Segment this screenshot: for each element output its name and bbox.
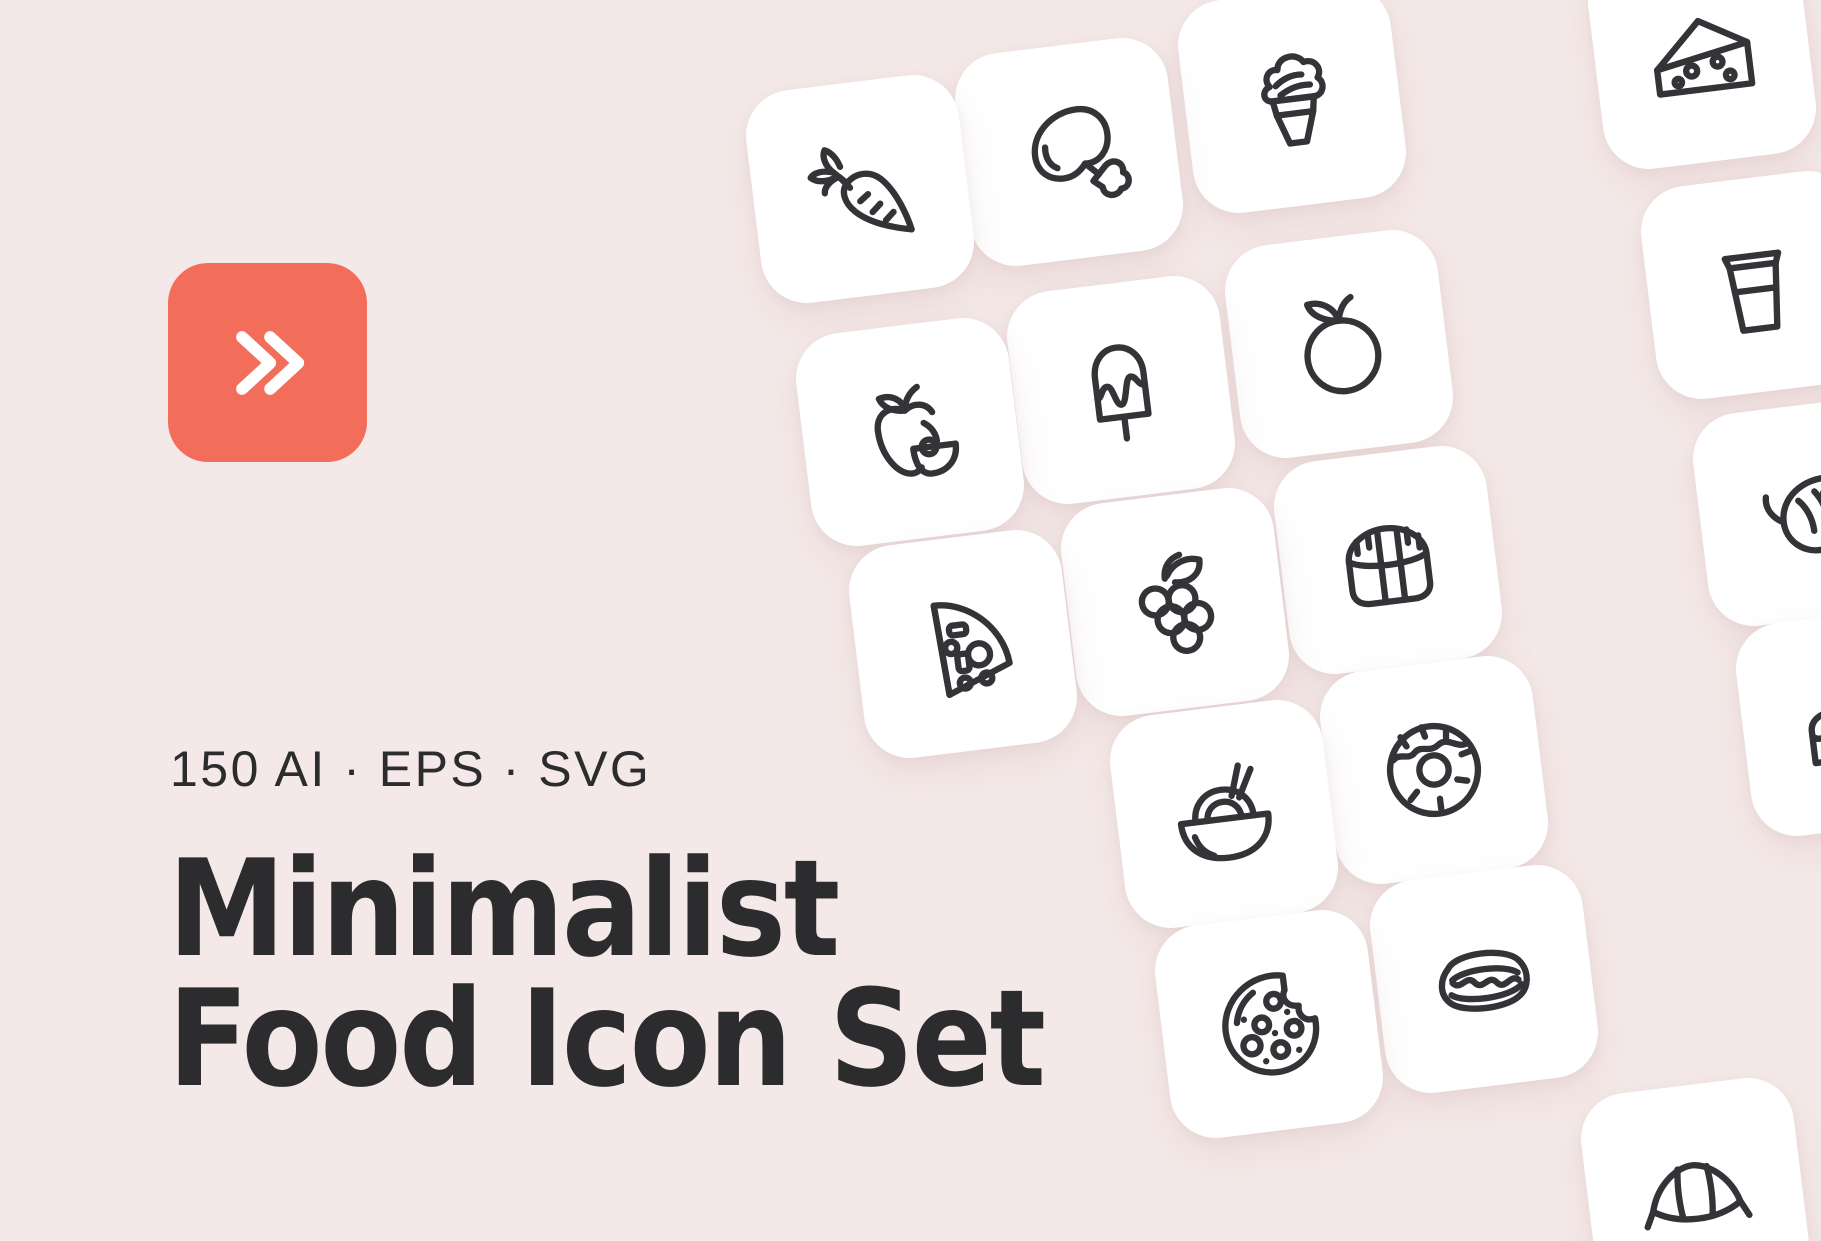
coffee-cup-icon [1687,217,1821,353]
sushi-icon [1320,492,1456,628]
headline-column: 150 AI · EPS · SVG Minimalist Food Icon … [168,0,1188,1241]
shrimp-icon [1739,444,1821,580]
icon-tile-cake[interactable] [1731,603,1821,841]
icon-tile-hot-dog[interactable] [1365,860,1603,1098]
page-title-line-2: Food Icon Set [168,975,1044,1105]
cookie-icon [1201,956,1337,1092]
page-title: Minimalist Food Icon Set [168,845,1044,1105]
cake-icon [1782,654,1821,790]
promo-banner: 150 AI · EPS · SVG Minimalist Food Icon … [0,0,1821,1241]
donut-icon [1366,702,1502,838]
icon-tile-cheese[interactable] [1583,0,1821,174]
icon-tile-sushi[interactable] [1269,441,1507,679]
croissant-icon [1627,1124,1763,1241]
page-title-line-1: Minimalist [168,845,1044,975]
icon-tile-ice-cream-cone[interactable] [1173,0,1411,218]
double-chevron-right-icon [214,309,322,417]
ice-cream-cone-icon [1224,31,1360,167]
hot-dog-icon [1416,911,1552,1047]
brand-logo-badge[interactable] [168,263,367,462]
format-subtitle: 150 AI · EPS · SVG [170,740,651,798]
cheese-icon [1634,0,1770,123]
icon-tile-donut[interactable] [1315,651,1553,889]
icon-tile-orange[interactable] [1220,225,1458,463]
orange-icon [1271,276,1407,412]
icon-tile-croissant[interactable] [1576,1073,1814,1241]
icon-tile-coffee-cup[interactable] [1636,166,1821,404]
icon-tile-shrimp[interactable] [1688,393,1821,631]
